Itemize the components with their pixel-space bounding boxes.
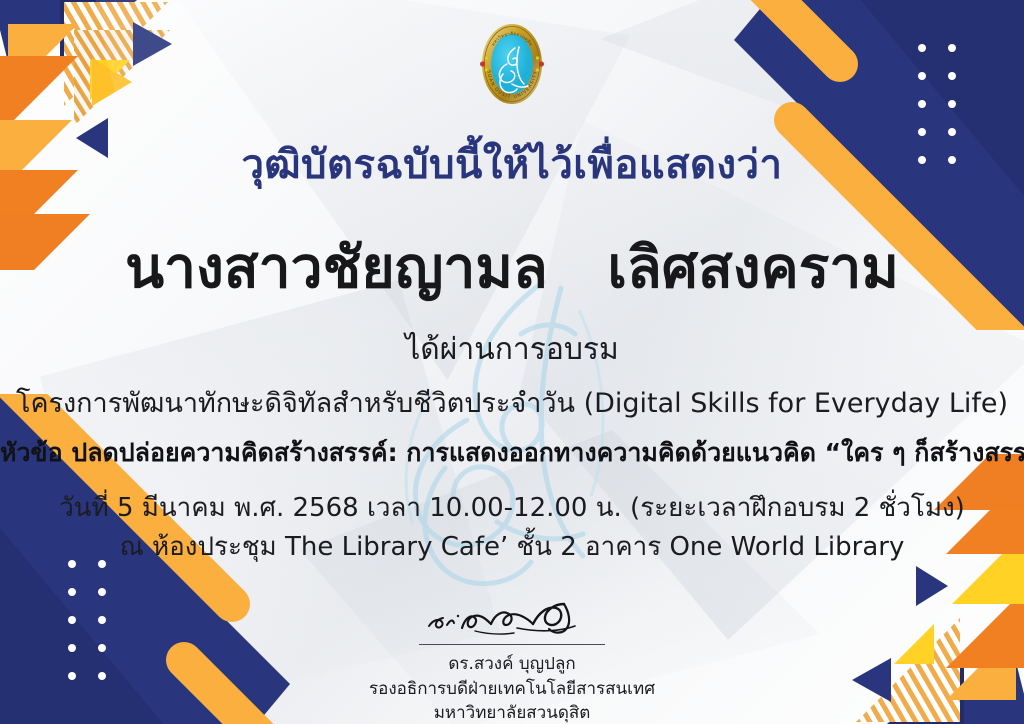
program-title: โครงการพัฒนาทักษะดิจิทัลสำหรับชีวิตประจำ… <box>0 386 1024 421</box>
recipient-name: นางสาวชัยญามล เลิศสงคราม <box>0 233 1024 304</box>
background-facet <box>600 0 960 270</box>
certificate-document: มหาวิทยาลัยสวนดุสิต SUAN DUSIT UNIVERSIT… <box>0 0 1024 724</box>
certificate-heading: วุฒิบัตรฉบับนี้ให้ไว้เพื่อแสดงว่า <box>0 141 1024 189</box>
venue-line: ณ ห้องประชุม The Library Cafe’ ชั้น 2 อา… <box>0 531 1024 565</box>
signer-role: รองอธิการบดีฝ่ายเทคโนโลยีสารสนเทศ <box>362 677 662 702</box>
background-facet <box>150 0 630 380</box>
handwritten-signature-icon <box>417 598 607 642</box>
university-seal: มหาวิทยาลัยสวนดุสิต SUAN DUSIT UNIVERSIT… <box>474 18 550 110</box>
signature-block: ดร.สวงค์ บุญปลูก รองอธิการบดีฝ่ายเทคโนโล… <box>362 598 662 724</box>
signer-name: ดร.สวงค์ บุญปลูก <box>362 652 662 677</box>
completion-statement: ได้ผ่านการอบรม <box>0 330 1024 369</box>
date-time-line: วันที่ 5 มีนาคม พ.ศ. 2568 เวลา 10.00-12.… <box>0 492 1024 526</box>
signer-organization: มหาวิทยาลัยสวนดุสิต <box>362 701 662 724</box>
signature-rule <box>419 644 605 645</box>
topic-title: หัวข้อ ปลดปล่อยความคิดสร้างสรรค์: การแสด… <box>0 437 1024 470</box>
corner-decoration-top-left <box>0 0 300 270</box>
university-seal-icon: มหาวิทยาลัยสวนดุสิต SUAN DUSIT UNIVERSIT… <box>474 18 550 110</box>
